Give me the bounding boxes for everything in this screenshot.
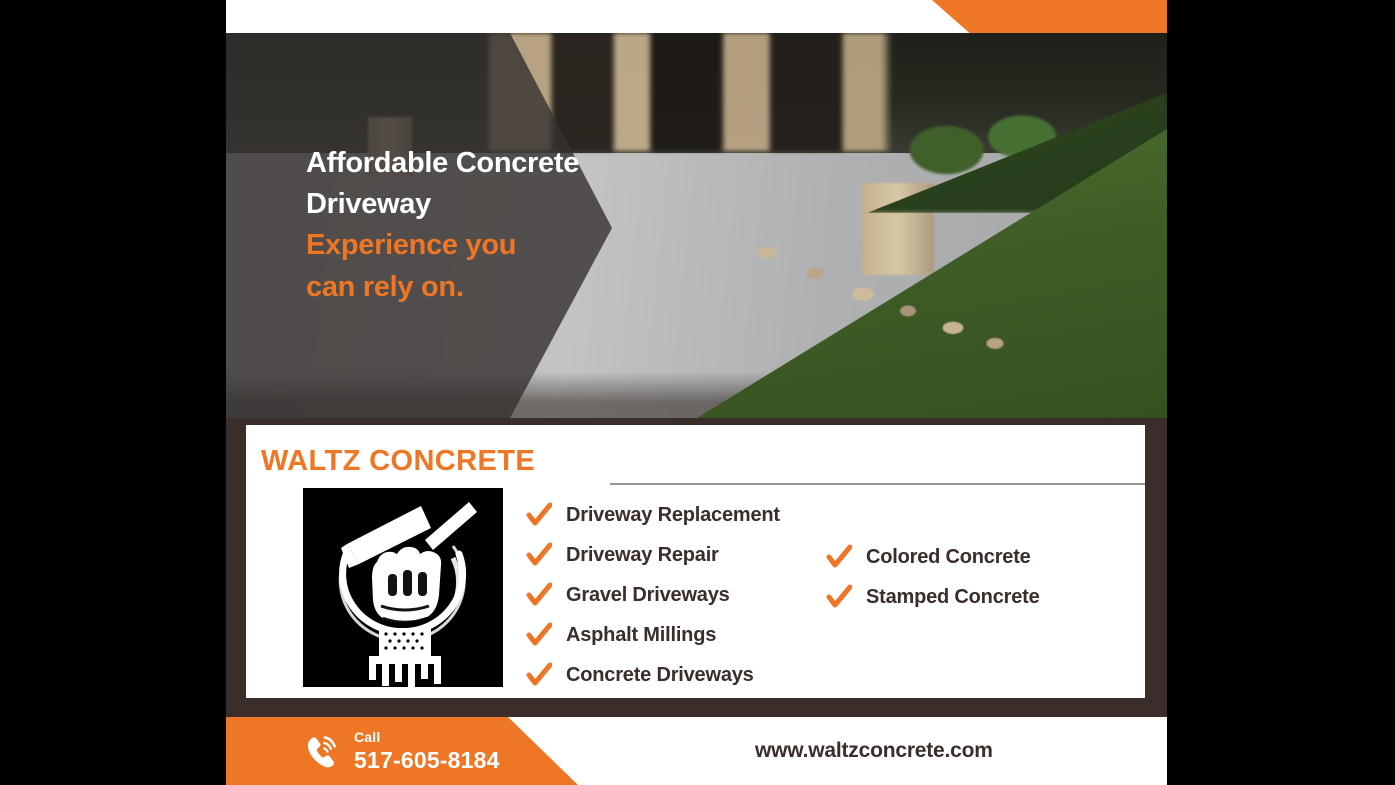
hero-headline: Affordable Concrete Driveway Experience … [306,143,636,308]
list-item: Gravel Driveways [526,575,836,615]
company-logo [303,488,503,687]
service-label: Gravel Driveways [566,584,730,607]
phone-ringing-icon [302,732,340,770]
check-icon [526,622,552,648]
check-icon [526,542,552,568]
website-url[interactable]: www.waltzconcrete.com [755,739,993,763]
headline-line-3: Experience you [306,224,636,266]
call-block[interactable]: Call 517-605-8184 [302,730,500,772]
check-icon [826,584,852,610]
check-icon [526,502,552,528]
services-column-secondary: Colored Concrete Stamped Concrete [826,537,1146,617]
info-panel: WALTZ CONCRETE [246,425,1145,698]
stone-edging [737,229,1037,359]
call-label: Call [354,730,500,744]
check-icon [526,582,552,608]
list-item: Driveway Replacement [526,495,836,535]
hero-photo: Affordable Concrete Driveway Experience … [226,33,1167,418]
services-column-primary: Driveway Replacement Driveway Repair Gra… [526,495,836,695]
check-icon [526,662,552,688]
call-text: Call 517-605-8184 [354,730,500,772]
brand-name: WALTZ CONCRETE [261,445,535,478]
headline-line-2: Driveway [306,184,636,225]
list-item: Driveway Repair [526,535,836,575]
service-label: Colored Concrete [866,546,1031,569]
phone-number[interactable]: 517-605-8184 [354,749,500,772]
list-item: Asphalt Millings [526,615,836,655]
flyer-card: Affordable Concrete Driveway Experience … [226,0,1167,785]
check-icon [826,544,852,570]
list-item: Colored Concrete [826,537,1146,577]
headline-line-1: Affordable Concrete [306,143,636,184]
flyer-canvas: Affordable Concrete Driveway Experience … [0,0,1395,785]
footer-bar: Call 517-605-8184 www.waltzconcrete.com [226,717,1167,785]
service-label: Stamped Concrete [866,586,1040,609]
list-item: Stamped Concrete [826,577,1146,617]
fist-hammer-flag-logo-icon [303,488,503,687]
list-item: Concrete Driveways [526,655,836,695]
brand-divider [610,483,1145,485]
headline-line-4: can rely on. [306,266,636,308]
service-label: Driveway Replacement [566,504,780,527]
service-label: Concrete Driveways [566,664,754,687]
service-label: Asphalt Millings [566,624,716,647]
service-label: Driveway Repair [566,544,719,567]
services-list: Driveway Replacement Driveway Repair Gra… [526,495,1141,695]
